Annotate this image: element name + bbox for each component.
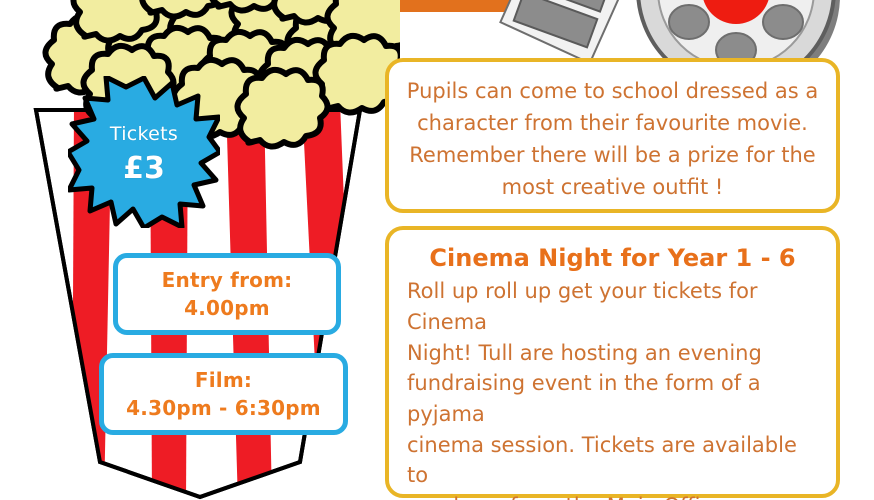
- film-time-plaque: Film: 4.30pm - 6:30pm: [99, 353, 348, 435]
- cinema-night-info-card: Cinema Night for Year 1 - 6 Roll up roll…: [385, 226, 840, 498]
- dress-up-card: Pupils can come to school dressed as a c…: [385, 58, 840, 213]
- info-body-line: purchase from the Main Office.: [407, 491, 818, 500]
- dress-up-line: Remember there will be a prize for the: [405, 140, 820, 172]
- entry-time-plaque: Entry from: 4.00pm: [113, 253, 341, 335]
- dress-up-line: most creative outfit !: [405, 172, 820, 204]
- entry-time-value: 4.00pm: [184, 294, 270, 322]
- info-body-line: Night! Tull are hosting an evening: [407, 338, 818, 369]
- dress-up-line: Pupils can come to school dressed as a: [405, 76, 820, 108]
- dress-up-line: character from their favourite movie.: [405, 108, 820, 140]
- film-time-label: Film:: [195, 366, 252, 394]
- info-body-line: Roll up roll up get your tickets for Cin…: [407, 276, 818, 337]
- info-body-line: cinema session. Tickets are available to: [407, 430, 818, 491]
- cinema-night-heading: Cinema Night for Year 1 - 6: [407, 242, 818, 274]
- info-body-line: fundraising event in the form of a pyjam…: [407, 368, 818, 429]
- entry-time-label: Entry from:: [162, 266, 293, 294]
- film-time-value: 4.30pm - 6:30pm: [126, 394, 321, 422]
- cinema-night-poster: Tickets £3 Entry from: 4.00pm Film: 4.30…: [0, 0, 874, 500]
- starburst-badge: Tickets £3: [68, 76, 220, 228]
